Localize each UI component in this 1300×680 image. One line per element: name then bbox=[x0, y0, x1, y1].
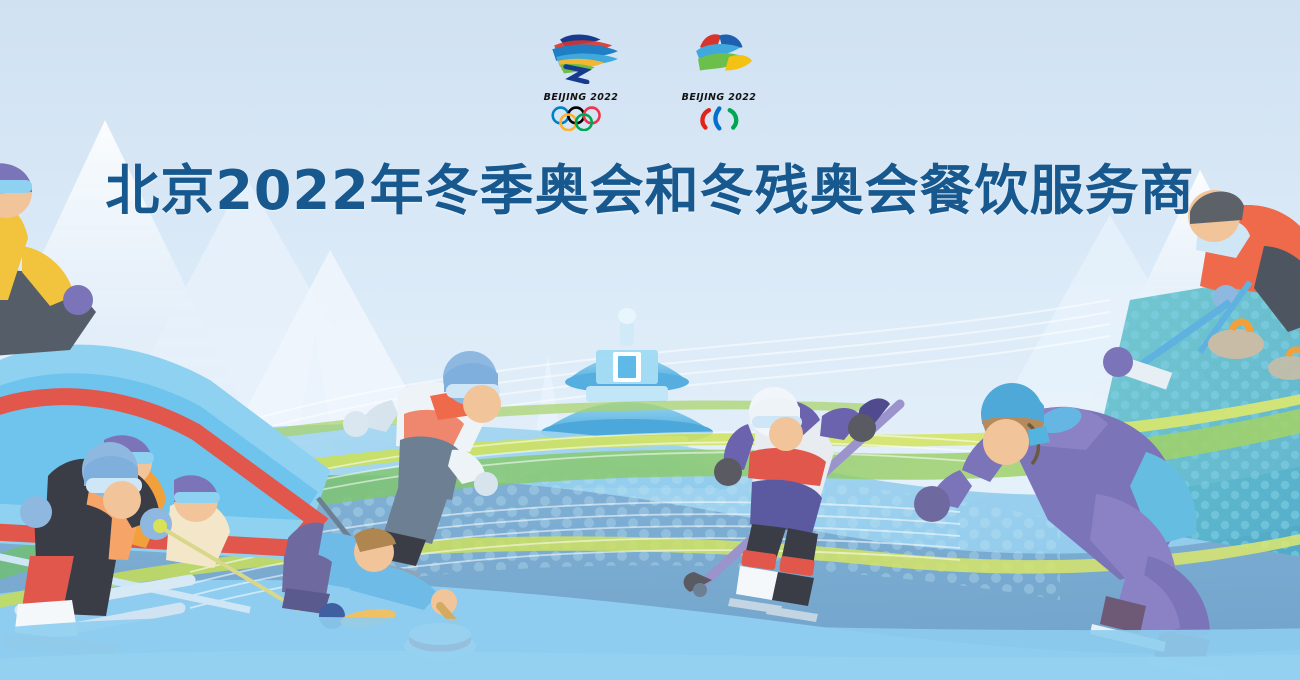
olympic-wordmark: BEIJING 2022 bbox=[533, 92, 629, 103]
agitos-icon bbox=[676, 105, 763, 131]
olympic-rings-icon bbox=[538, 105, 625, 131]
paralympic-emblem: BEIJING 2022 bbox=[671, 28, 767, 136]
olympic-emblem: BEIJING 2022 bbox=[533, 28, 629, 136]
olympic-emblem-mark bbox=[533, 28, 630, 84]
page-title: 北京2022年冬季奥会和冬残奥会餐饮服务商 bbox=[0, 146, 1300, 225]
emblem-row: BEIJING 2022 BEIJING 2022 bbox=[0, 28, 1300, 136]
beijing-2022-catering-banner: BEIJING 2022 BEIJING 2022 bbox=[0, 0, 1300, 680]
paralympic-emblem-mark bbox=[671, 28, 768, 84]
paralympic-wordmark: BEIJING 2022 bbox=[671, 92, 767, 103]
